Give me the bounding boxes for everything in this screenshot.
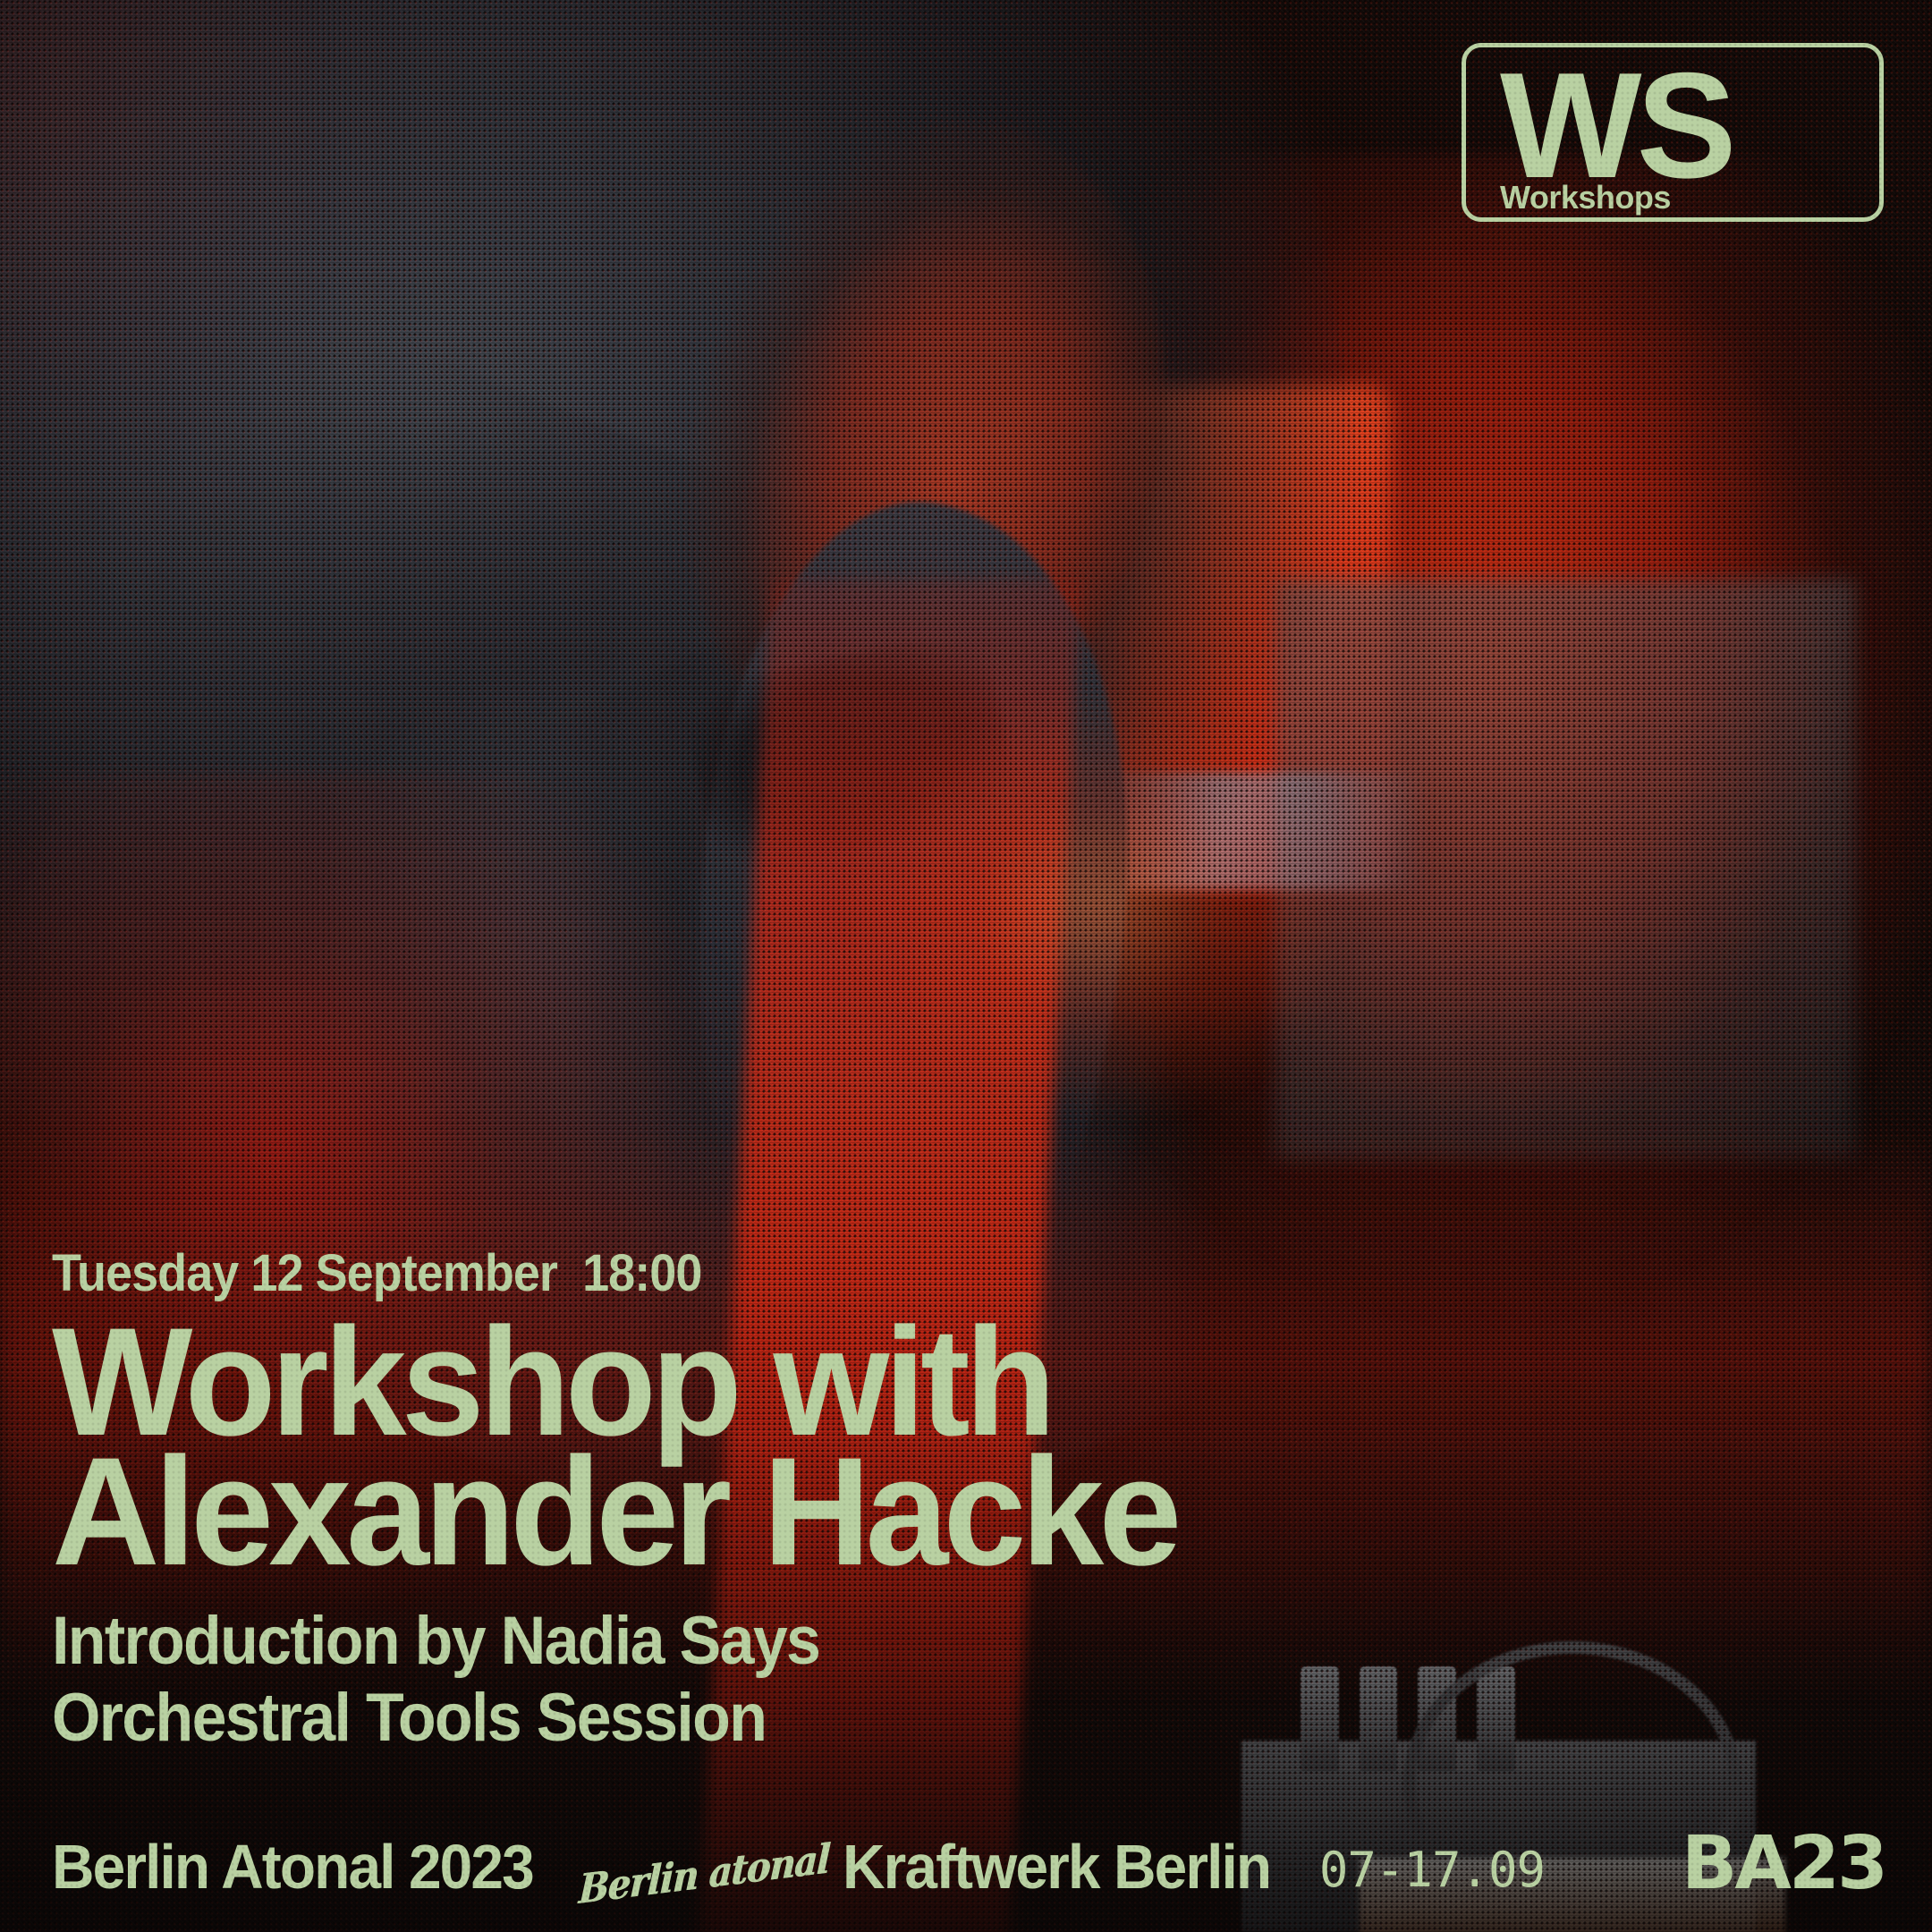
footer-festival-dates: 07-17.09 (1319, 1846, 1545, 1894)
footer-ba23-tag: BA23 (1682, 1829, 1885, 1898)
event-title: Workshop with Alexander Hacke (52, 1318, 1826, 1576)
event-text-block: Tuesday 12 September 18:00 Workshop with… (52, 1243, 1880, 1757)
footer-bar: Berlin Atonal 2023 Berlin atonal Kraftwe… (52, 1829, 1885, 1898)
event-subtitles: Introduction by Nadia Says Orchestral To… (52, 1603, 1880, 1757)
event-subtitle-2: Orchestral Tools Session (52, 1680, 1733, 1757)
workshops-badge-mark: WS (1500, 56, 1852, 195)
poster: WS Workshops Tuesday 12 September 18:00 … (0, 0, 1932, 1932)
event-title-line-2: Alexander Hacke (52, 1447, 1826, 1576)
event-date-time: Tuesday 12 September 18:00 (52, 1243, 1752, 1303)
event-subtitle-1: Introduction by Nadia Says (52, 1603, 1733, 1680)
workshops-badge: WS Workshops (1462, 43, 1884, 222)
footer-festival-name: Berlin Atonal 2023 (52, 1835, 533, 1898)
footer-venue: Kraftwerk Berlin (843, 1835, 1270, 1898)
